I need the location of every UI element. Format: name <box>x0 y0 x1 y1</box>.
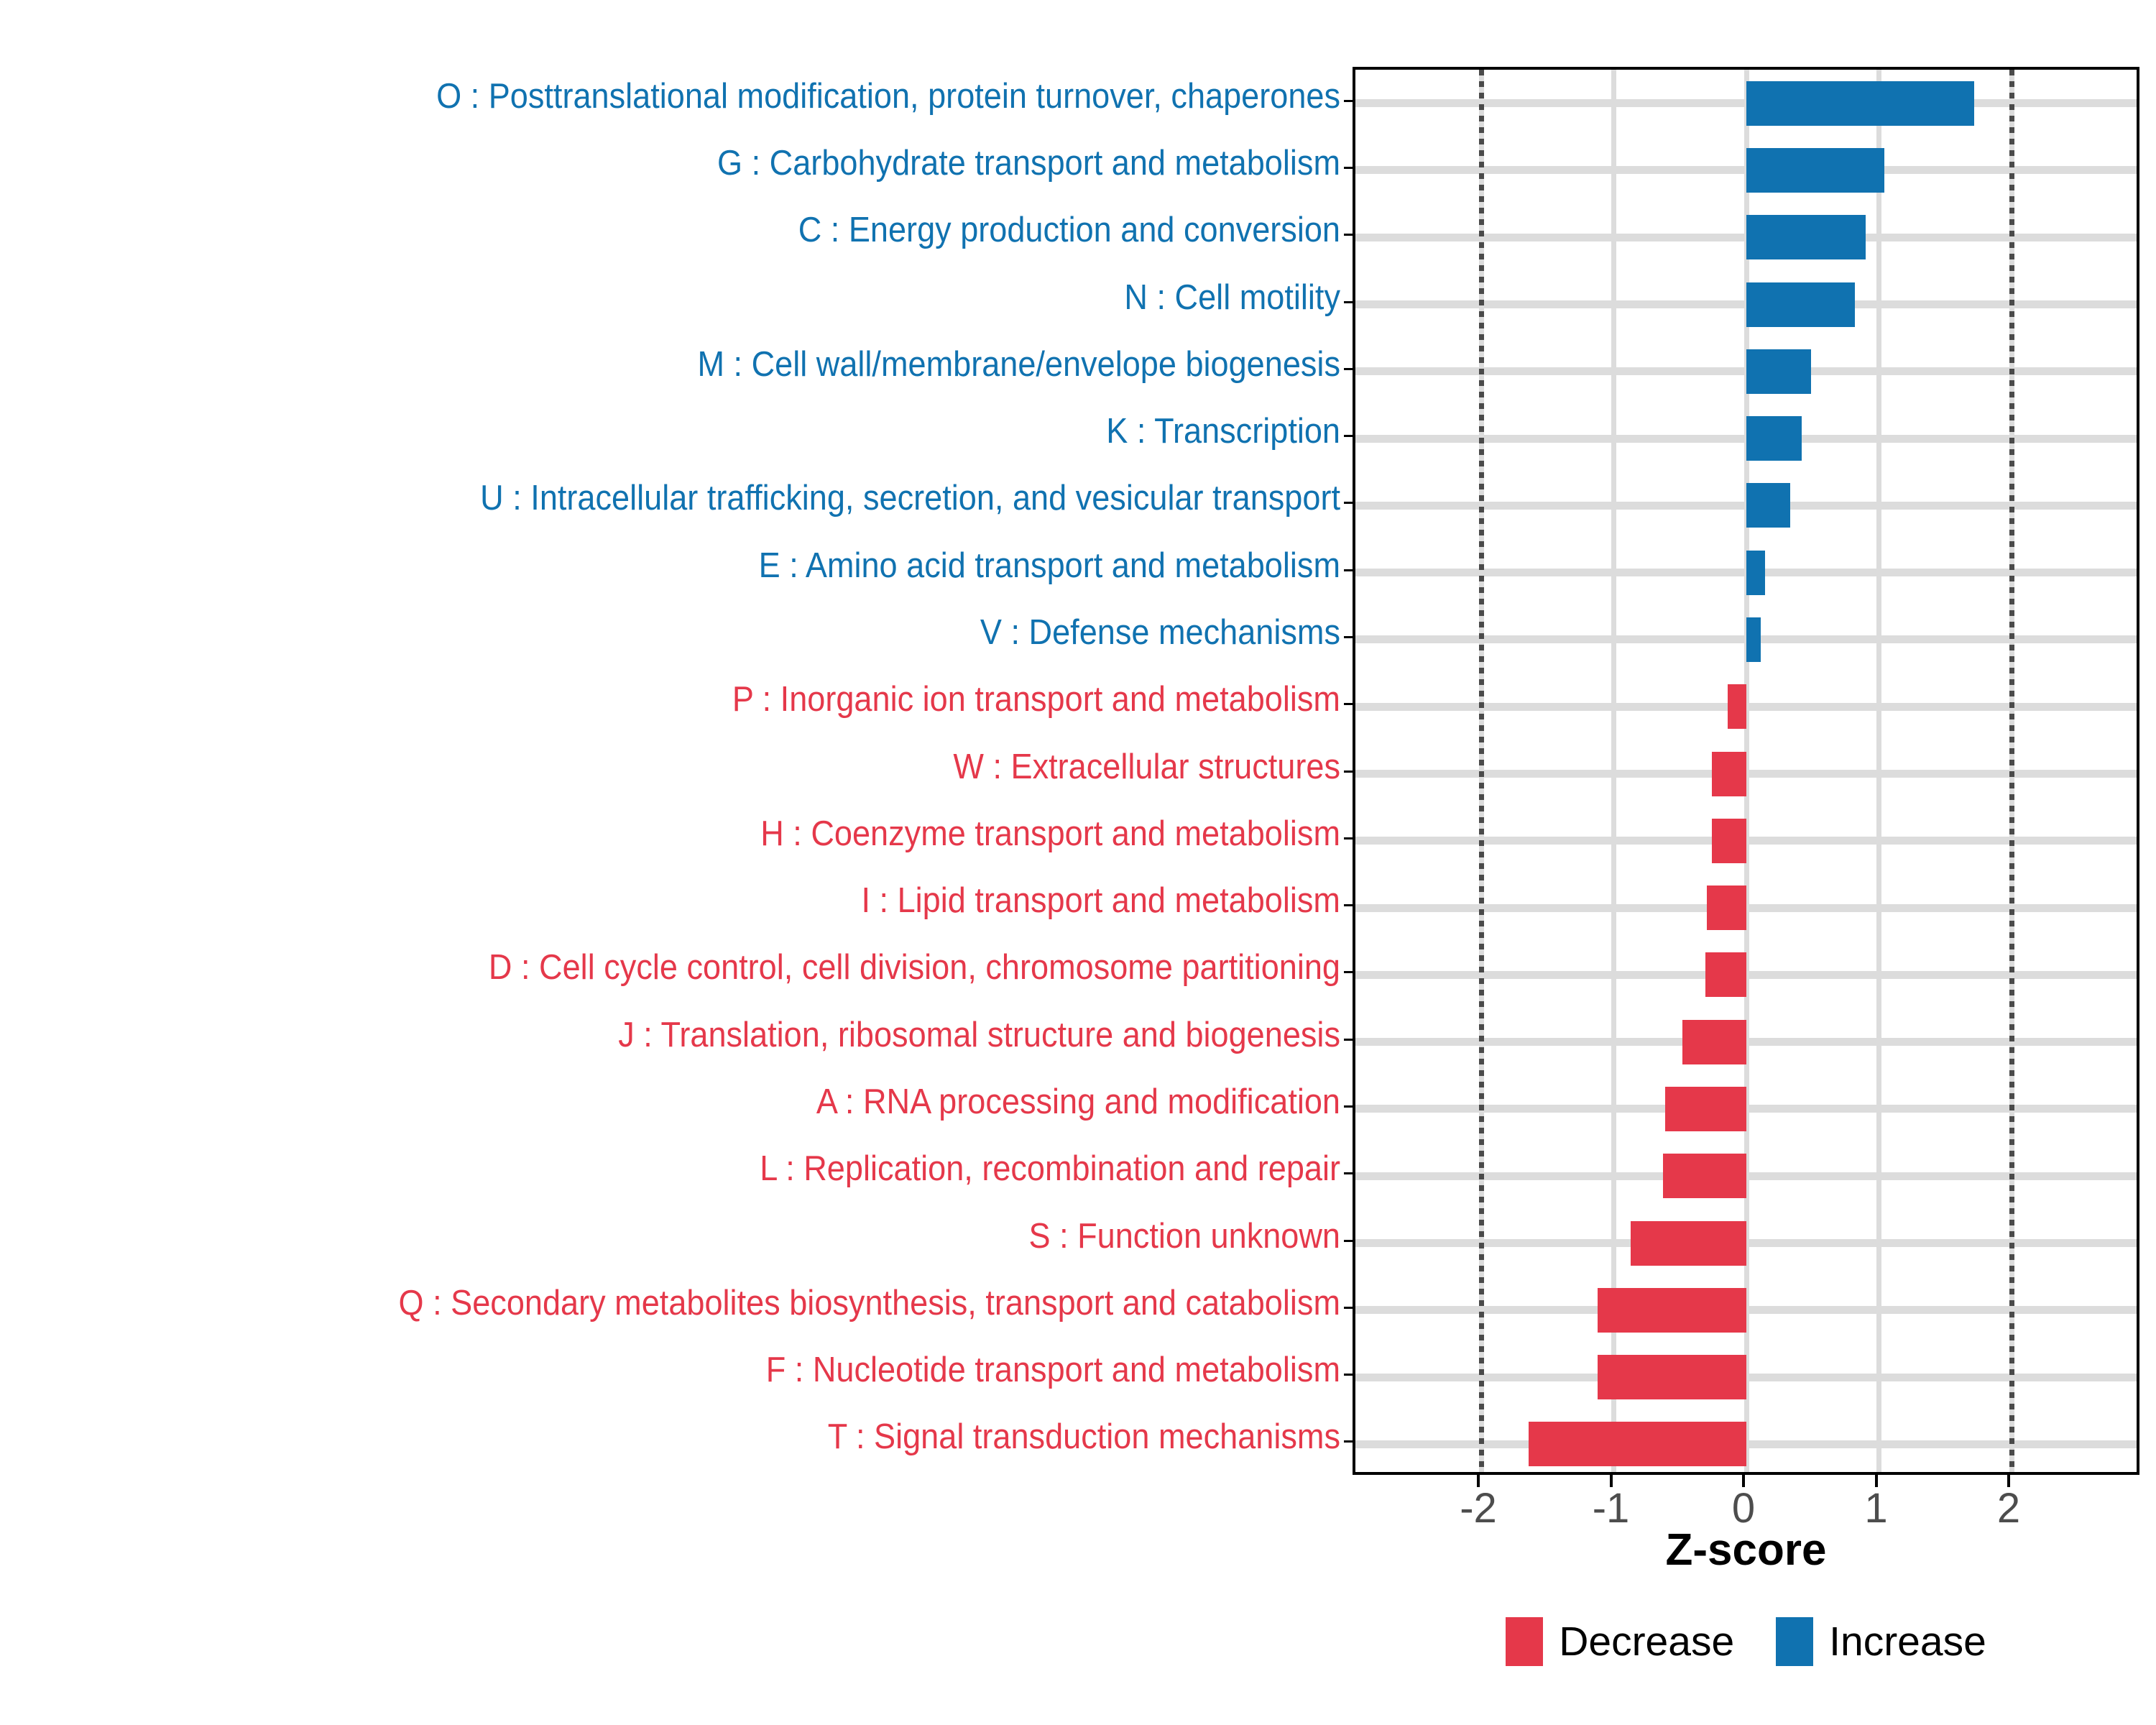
legend-swatch <box>1776 1617 1813 1666</box>
cog-zscore-bar-chart: O : Posttranslational modification, prot… <box>0 0 2156 1725</box>
bar <box>1682 1020 1746 1064</box>
chart-legend: DecreaseIncrease <box>1353 1617 2139 1666</box>
y-axis-label: M : Cell wall/membrane/envelope biogenes… <box>111 347 1340 382</box>
y-axis-label: E : Amino acid transport and metabolism <box>111 548 1340 584</box>
x-axis-tick-label: 0 <box>1693 1488 1794 1529</box>
x-axis-tick-label: 2 <box>1958 1488 2059 1529</box>
y-axis-label: Q : Secondary metabolites biosynthesis, … <box>111 1286 1340 1321</box>
bar <box>1746 215 1866 259</box>
reference-line--2 <box>1479 70 1484 1472</box>
y-axis-label: U : Intracellular trafficking, secretion… <box>111 481 1340 516</box>
bar <box>1631 1221 1746 1266</box>
y-axis-label: F : Nucleotide transport and metabolism <box>111 1353 1340 1388</box>
y-axis-tick <box>1344 301 1353 303</box>
legend-item[interactable]: Decrease <box>1506 1617 1734 1666</box>
legend-label: Increase <box>1829 1621 1986 1662</box>
y-axis-tick <box>1344 1172 1353 1174</box>
y-axis-tick <box>1344 837 1353 839</box>
y-axis-label: K : Transcription <box>111 414 1340 449</box>
y-axis-label: H : Coenzyme transport and metabolism <box>111 816 1340 852</box>
y-axis-label: V : Defense mechanisms <box>111 615 1340 650</box>
y-axis-label: S : Function unknown <box>111 1219 1340 1254</box>
y-axis-tick <box>1344 770 1353 773</box>
bar <box>1746 617 1761 662</box>
x-axis-tick-label: -1 <box>1561 1488 1662 1529</box>
y-axis-tick <box>1344 167 1353 169</box>
bar <box>1746 81 1974 126</box>
y-axis-label: W : Extracellular structures <box>111 750 1340 785</box>
bar <box>1712 819 1746 863</box>
x-axis-tick-label: -2 <box>1428 1488 1529 1529</box>
y-axis-tick <box>1344 971 1353 973</box>
bar <box>1746 416 1802 461</box>
y-axis-tick <box>1344 100 1353 102</box>
plot-panel <box>1353 67 2139 1475</box>
reference-line-2 <box>2009 70 2014 1472</box>
bar <box>1746 483 1790 528</box>
y-axis-label: J : Translation, ribosomal structure and… <box>111 1018 1340 1053</box>
y-axis-tick <box>1344 1374 1353 1376</box>
bar <box>1746 551 1765 595</box>
bar <box>1746 349 1811 394</box>
y-axis-label: P : Inorganic ion transport and metaboli… <box>111 682 1340 717</box>
y-axis-tick <box>1344 435 1353 437</box>
bar <box>1665 1087 1746 1131</box>
y-axis-tick <box>1344 904 1353 906</box>
bar <box>1707 885 1746 930</box>
bar <box>1529 1422 1746 1466</box>
y-axis-tick <box>1344 234 1353 236</box>
y-axis-label: G : Carbohydrate transport and metabolis… <box>111 146 1340 181</box>
y-axis-label: D : Cell cycle control, cell division, c… <box>111 950 1340 985</box>
bar <box>1663 1154 1746 1198</box>
y-axis-label: I : Lipid transport and metabolism <box>111 883 1340 919</box>
bar <box>1746 282 1855 327</box>
legend-label: Decrease <box>1559 1621 1734 1662</box>
y-axis-tick <box>1344 1240 1353 1242</box>
bar <box>1598 1355 1746 1399</box>
x-axis-tick-label: 1 <box>1826 1488 1927 1529</box>
y-axis-tick <box>1344 1105 1353 1108</box>
y-axis-tick <box>1344 636 1353 638</box>
y-axis-label: T : Signal transduction mechanisms <box>111 1420 1340 1455</box>
bar <box>1712 752 1746 796</box>
y-axis-tick <box>1344 703 1353 705</box>
y-axis-tick <box>1344 368 1353 370</box>
bar <box>1598 1288 1746 1333</box>
y-axis-tick <box>1344 569 1353 571</box>
y-axis-tick <box>1344 502 1353 504</box>
legend-item[interactable]: Increase <box>1776 1617 1986 1666</box>
y-axis-label: N : Cell motility <box>111 280 1340 316</box>
bar <box>1746 148 1884 193</box>
y-axis-label: A : RNA processing and modification <box>111 1085 1340 1120</box>
y-axis-tick <box>1344 1039 1353 1041</box>
y-axis-tick <box>1344 1307 1353 1309</box>
x-axis-title: Z-score <box>1353 1528 2139 1573</box>
bar <box>1728 684 1746 729</box>
y-axis-label: L : Replication, recombination and repai… <box>111 1151 1340 1187</box>
y-axis-label: O : Posttranslational modification, prot… <box>111 79 1340 114</box>
bar <box>1705 952 1746 997</box>
legend-swatch <box>1506 1617 1543 1666</box>
y-axis-category-labels: O : Posttranslational modification, prot… <box>0 67 1340 1475</box>
y-axis-tick <box>1344 1440 1353 1443</box>
y-axis-label: C : Energy production and conversion <box>111 213 1340 248</box>
